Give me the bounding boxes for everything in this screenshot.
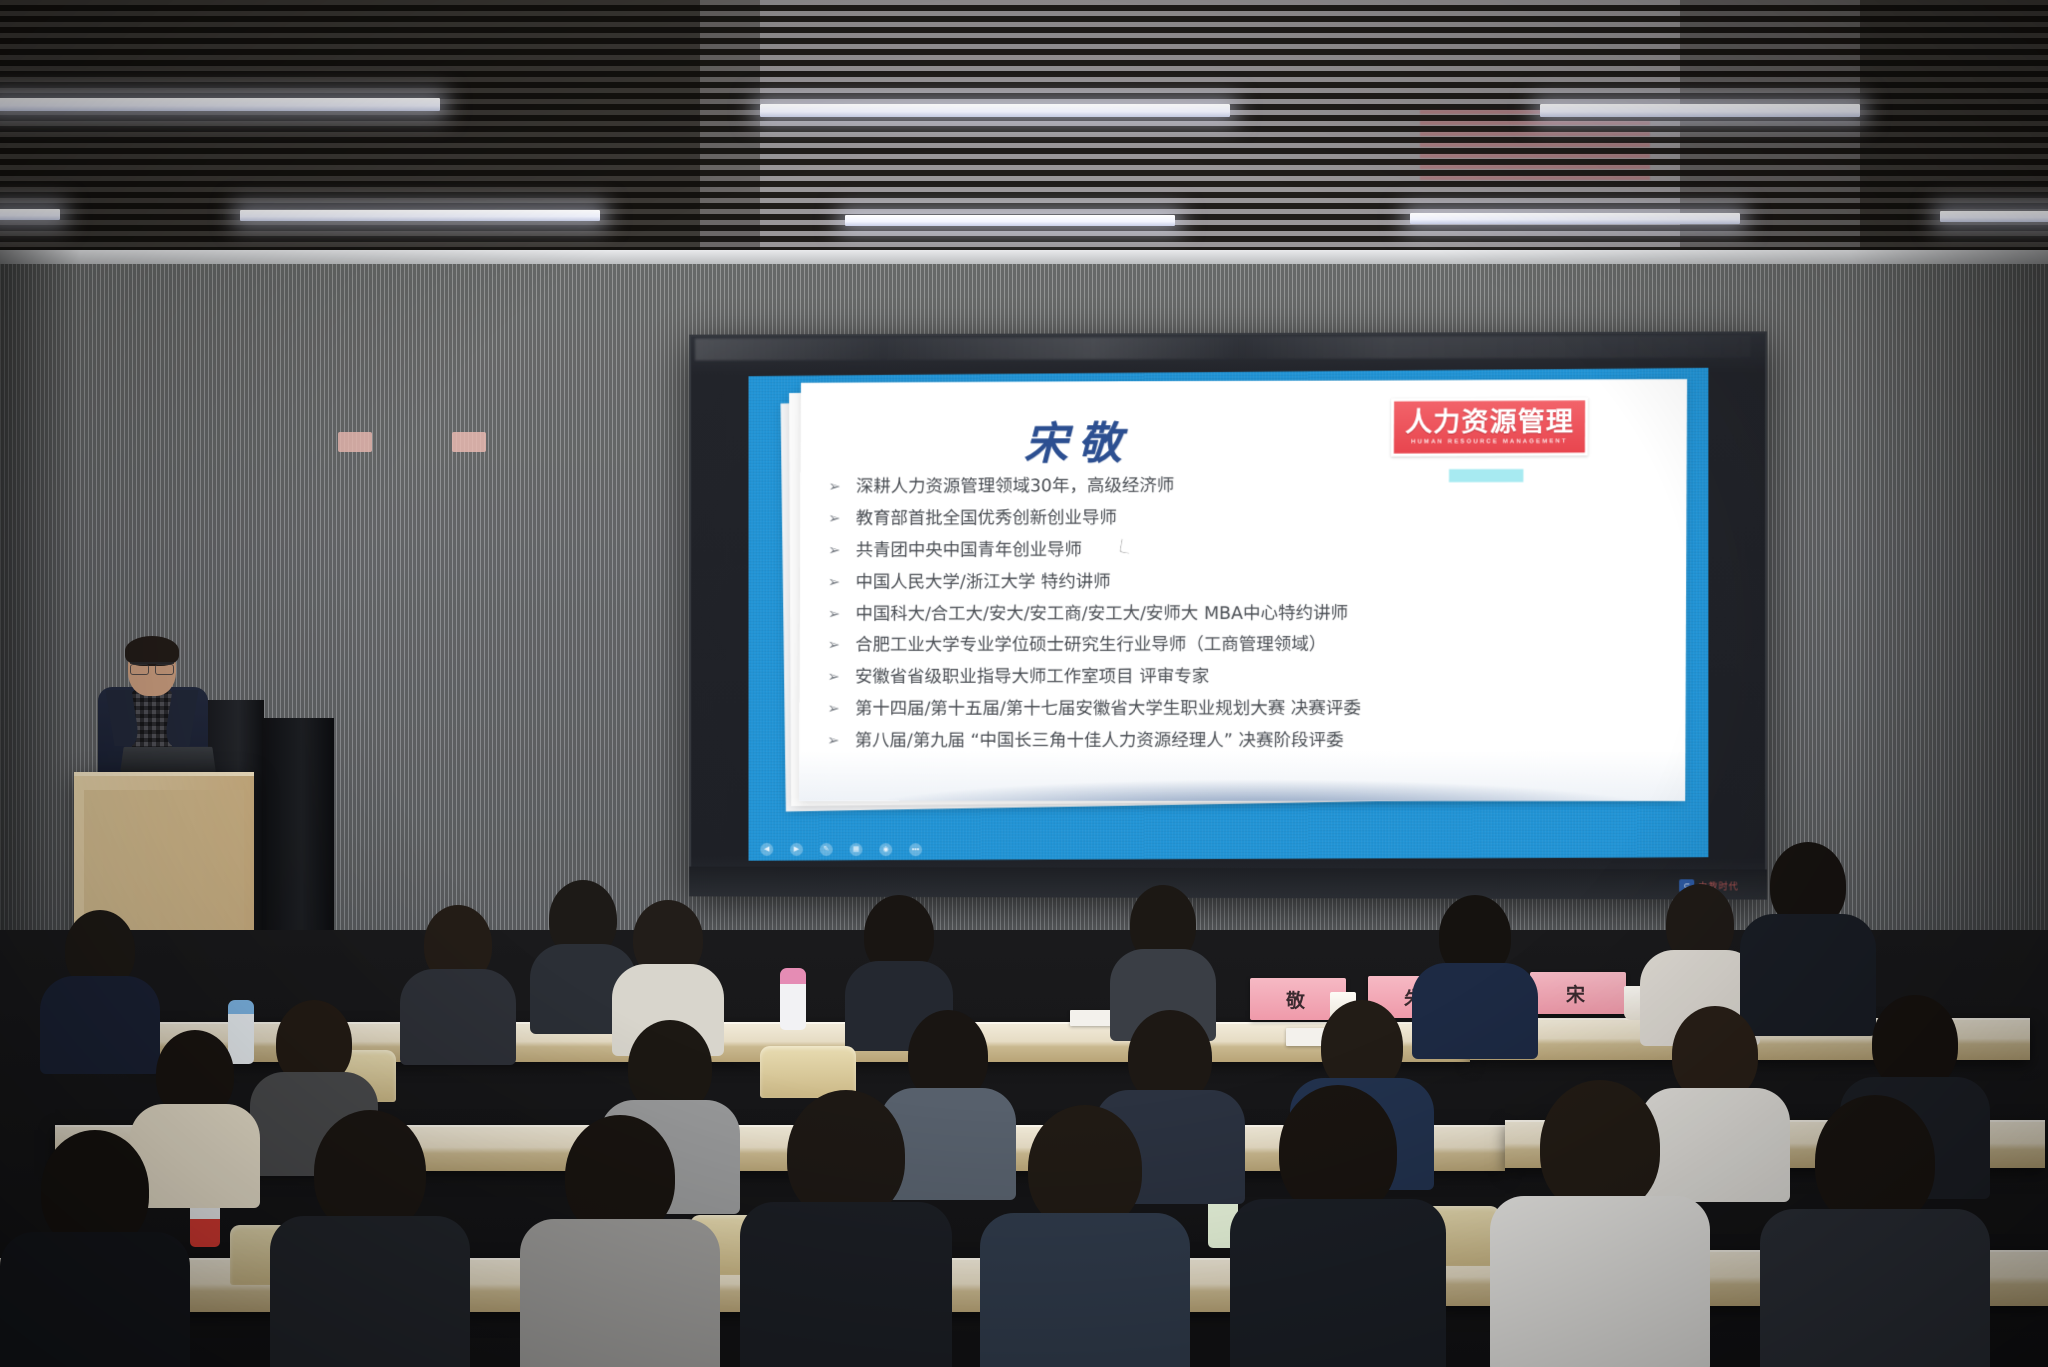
magnifier-icon: ◉ [883, 846, 889, 853]
bullet-text: 第十四届/第十五届/第十七届安徽省大学生职业规划大赛 决赛评委 [855, 700, 1361, 719]
ceiling-panel [700, 0, 760, 252]
bullet-text: 教育部首批全国优秀创新创业导师 [856, 509, 1117, 528]
bullet-arrow-icon: ➢ [828, 479, 856, 495]
bullet-arrow-icon: ➢ [827, 701, 855, 717]
person-head [1540, 1080, 1660, 1214]
bullet-item: ➢ 第八届/第九届 “中国长三角十佳人力资源经理人” 决赛阶段评委 [827, 732, 1667, 751]
lecture-hall-scene: 宋敬 人力资源管理 HUMAN RESOURCE MANAGEMENT ➢ 深耕… [0, 0, 2048, 1367]
logo-english-text: HUMAN RESOURCE MANAGEMENT [1411, 439, 1568, 446]
bullet-arrow-icon: ➢ [827, 670, 855, 686]
slide-overview-button[interactable]: ▦ [850, 843, 863, 856]
bullet-text: 共青团中央中国青年创业导师 [856, 541, 1082, 560]
bullet-text: 第八届/第九届 “中国长三角十佳人力资源经理人” 决赛阶段评委 [855, 732, 1344, 751]
audience-person [1760, 1095, 1990, 1367]
person-head [1279, 1085, 1397, 1217]
person-body [0, 1232, 190, 1367]
next-slide-button[interactable]: ▶ [790, 843, 803, 856]
zoom-tool-button[interactable]: ◉ [879, 843, 892, 856]
wall-shadow [1848, 250, 2048, 950]
slide-bullet-list: ➢ 深耕人力资源管理领域30年，高级经济师 ➢ 教育部首批全国优秀创新创业导师 … [827, 476, 1668, 764]
bullet-arrow-icon: ➢ [828, 606, 856, 622]
person-body [740, 1202, 952, 1367]
ellipsis-icon: ••• [912, 846, 919, 853]
bullet-item: ➢ 安徽省省级职业指导大师工作室项目 评审专家 [827, 668, 1667, 687]
logo-red-plate: 人力资源管理 HUMAN RESOURCE MANAGEMENT [1394, 400, 1585, 453]
bullet-item: ➢ 共青团中央中国青年创业导师 [828, 540, 1668, 560]
projection-display[interactable]: 宋敬 人力资源管理 HUMAN RESOURCE MANAGEMENT ➢ 深耕… [689, 331, 1767, 899]
wall-sticker [452, 432, 486, 452]
logo-chinese-text: 人力资源管理 [1405, 409, 1574, 437]
ceiling-light [0, 209, 60, 220]
person-body [980, 1213, 1190, 1367]
bullet-arrow-icon: ➢ [828, 574, 856, 590]
grid-icon: ▦ [853, 846, 860, 853]
bullet-arrow-icon: ➢ [827, 638, 855, 654]
bullet-item: ➢ 合肥工业大学专业学位硕士研究生行业导师（工商管理领域） [827, 636, 1667, 656]
bullet-item: ➢ 中国人民大学/浙江大学 特约讲师 [828, 572, 1668, 592]
audience-person [1490, 1080, 1710, 1367]
bullet-item: ➢ 教育部首批全国优秀创新创业导师 [828, 508, 1668, 529]
podium-laptop[interactable] [120, 747, 216, 772]
wall-sticker [338, 432, 372, 452]
ceiling-light [0, 98, 440, 111]
more-options-button[interactable]: ••• [909, 843, 922, 856]
wall-trim [0, 250, 2048, 264]
pen-icon: ✎ [823, 846, 829, 853]
audience-person [400, 905, 516, 1063]
wall-shadow [0, 250, 80, 950]
ceiling-banner [1420, 110, 1650, 180]
bullet-text: 中国科大/合工大/安大/安工商/安工大/安师大 MBA中心特约讲师 [855, 604, 1348, 623]
previous-slide-button[interactable]: ◀ [760, 843, 773, 856]
ceiling-light [1540, 104, 1860, 117]
hr-management-logo: 人力资源管理 HUMAN RESOURCE MANAGEMENT [1391, 397, 1588, 456]
slide-card-front: 宋敬 人力资源管理 HUMAN RESOURCE MANAGEMENT ➢ 深耕… [799, 379, 1687, 801]
previous-slide-icon: ◀ [764, 846, 769, 853]
bullet-text: 安徽省省级职业指导大师工作室项目 评审专家 [855, 668, 1209, 687]
ceiling [0, 0, 2048, 252]
bullet-arrow-icon: ➢ [828, 511, 856, 527]
presentation-toolbar[interactable]: ◀ ▶ ✎ ▦ ◉ ••• [749, 841, 1709, 860]
ceiling-light [1940, 211, 2048, 222]
person-body [1230, 1199, 1446, 1367]
presenter-glasses [130, 662, 174, 671]
bullet-item: ➢ 深耕人力资源管理领域30年，高级经济师 [828, 476, 1668, 497]
placard-text: 宋 [1566, 980, 1590, 1007]
bullet-text: 合肥工业大学专业学位硕士研究生行业导师（工商管理领域） [855, 636, 1326, 655]
bullet-arrow-icon: ➢ [828, 543, 856, 559]
bezel-glare [695, 335, 1751, 360]
person-body [1490, 1196, 1710, 1367]
person-head [787, 1090, 905, 1220]
bullet-item: ➢ 第十四届/第十五届/第十七届安徽省大学生职业规划大赛 决赛评委 [827, 700, 1667, 719]
bullet-text: 中国人民大学/浙江大学 特约讲师 [856, 573, 1111, 592]
ceiling-light [845, 215, 1175, 226]
audience-person [740, 1090, 952, 1367]
audience-person [0, 1130, 190, 1367]
name-placard: 宋 [1530, 972, 1626, 1014]
person-body [520, 1219, 720, 1367]
next-slide-icon: ▶ [794, 846, 799, 853]
person-head [1815, 1095, 1935, 1227]
audience-person [1230, 1085, 1446, 1367]
pen-tool-button[interactable]: ✎ [820, 843, 833, 856]
bullet-text: 深耕人力资源管理领域30年，高级经济师 [856, 477, 1174, 496]
ceiling-light [1410, 213, 1740, 224]
presentation-slide[interactable]: 宋敬 人力资源管理 HUMAN RESOURCE MANAGEMENT ➢ 深耕… [749, 368, 1709, 861]
audience-person [980, 1105, 1190, 1367]
bullet-arrow-icon: ➢ [827, 733, 855, 749]
person-body [1760, 1209, 1990, 1367]
ceiling-light [240, 210, 600, 221]
slide-title: 宋敬 [1024, 407, 1132, 471]
ceiling-light [760, 104, 1230, 117]
water-bottle [780, 968, 806, 1030]
audience-person [520, 1115, 720, 1367]
person-body [270, 1216, 470, 1367]
audience-person [270, 1110, 470, 1367]
person-body [400, 969, 516, 1065]
bullet-item: ➢ 中国科大/合工大/安大/安工商/安工大/安师大 MBA中心特约讲师 [828, 604, 1668, 624]
